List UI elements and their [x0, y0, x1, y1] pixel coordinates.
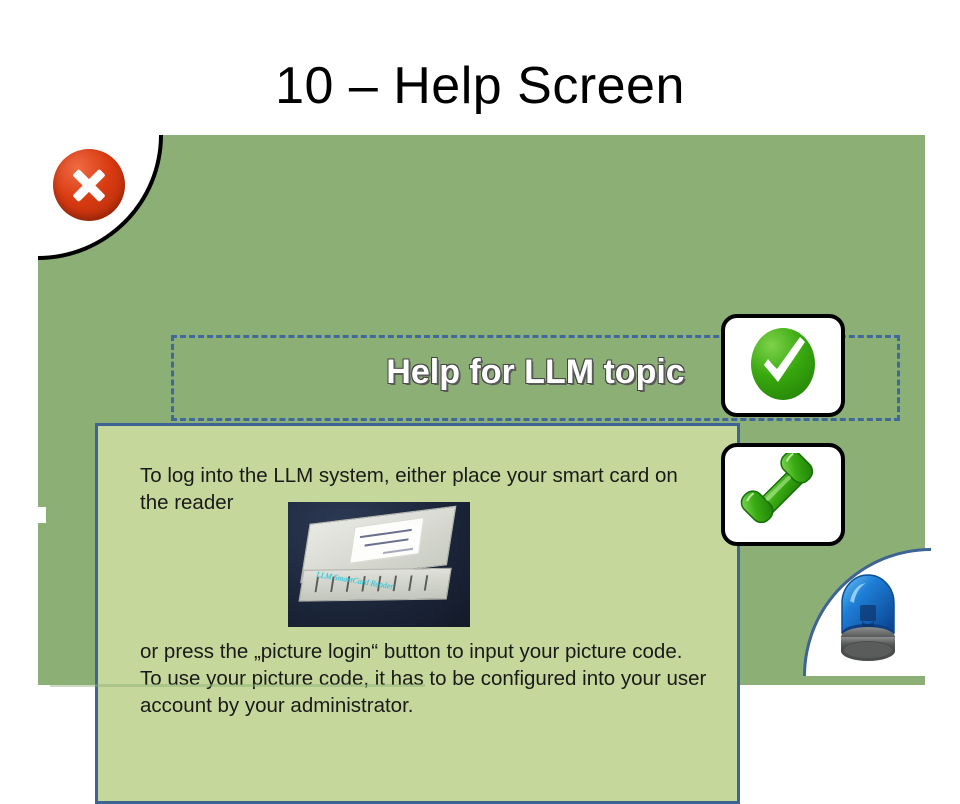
screen-left-edge-marker [38, 507, 46, 523]
help-content-panel: To log into the LLM system, either place… [95, 423, 740, 804]
smart-card-reader-photo: LLM SmartCard Reader [288, 502, 470, 627]
page-title: 10 – Help Screen [0, 56, 960, 116]
call-button[interactable] [721, 443, 845, 546]
screen-bottom-edge [50, 684, 425, 687]
help-paragraph-2: or press the „picture login“ button to i… [140, 638, 715, 719]
close-icon [53, 149, 125, 221]
phone-icon [739, 453, 829, 535]
reader-device [291, 507, 458, 612]
x-mark-icon [53, 149, 125, 221]
checkmark-glyph [756, 331, 812, 397]
slide-canvas: 10 – Help Screen Help for LLM topic To l… [0, 0, 960, 720]
beacon-icon [832, 571, 904, 663]
ok-button[interactable] [721, 314, 845, 417]
